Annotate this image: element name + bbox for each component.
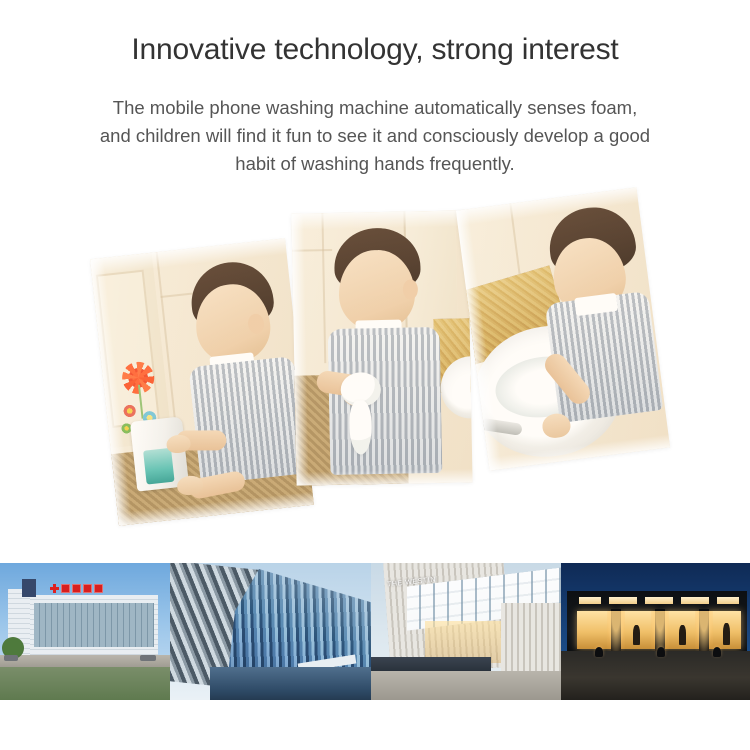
child-ear <box>403 279 418 299</box>
photo-boy-dispenser <box>90 238 314 526</box>
page-title: Innovative technology, strong interest <box>0 30 750 70</box>
hospital-rooftop-sign <box>50 584 103 593</box>
photo-boy-sink <box>456 187 670 470</box>
strip-night-storefront <box>561 563 750 700</box>
hospital-glass-facade <box>34 603 154 647</box>
strip-glass-tower <box>170 563 371 700</box>
description-line-1: The mobile phone washing machine automat… <box>36 94 714 122</box>
photo-boy-sink-scene <box>456 187 670 470</box>
rooftop-box <box>22 579 36 597</box>
description-line-3: habit of washing hands frequently. <box>36 150 714 178</box>
wall-wash-light <box>607 611 625 651</box>
tower-base <box>210 667 371 700</box>
strip-westin-hotel: THE WESTIN <box>371 563 561 700</box>
bollard-light <box>657 647 665 657</box>
building-photo-strip: THE WESTIN <box>0 563 750 700</box>
sign-char <box>83 584 92 593</box>
description-line-2: and children will find it fun to see it … <box>36 122 714 150</box>
sign-char <box>72 584 81 593</box>
wall-wash-light <box>695 611 713 651</box>
hotel-driveway <box>371 671 561 700</box>
child-shirt <box>188 356 306 485</box>
bollard-light <box>713 647 721 657</box>
photo-collage <box>0 190 750 540</box>
bollard-light <box>595 647 603 657</box>
car <box>4 655 18 661</box>
clerestory-window <box>645 597 673 604</box>
hotel-side-wing <box>501 603 561 671</box>
lawn <box>0 667 170 700</box>
clerestory-window <box>681 597 709 604</box>
car <box>140 655 156 661</box>
clerestory-window <box>717 597 739 604</box>
photo-boy-foam <box>291 210 472 485</box>
sign-char <box>61 584 70 593</box>
forecourt <box>561 651 750 700</box>
person-silhouette <box>723 623 730 645</box>
clerestory-window <box>609 597 637 604</box>
person-silhouette <box>679 625 686 645</box>
foam-drip <box>349 400 372 454</box>
person-silhouette <box>633 625 640 645</box>
red-cross-icon <box>50 584 59 593</box>
dispenser-soap-window <box>143 448 175 485</box>
photo-boy-dispenser-scene <box>90 238 314 526</box>
sign-char <box>94 584 103 593</box>
description-block: The mobile phone washing machine automat… <box>36 94 714 178</box>
product-detail-page: Innovative technology, strong interest T… <box>0 0 750 750</box>
wall-wash-light <box>651 611 669 651</box>
strip-hospital <box>0 563 170 700</box>
photo-boy-foam-scene <box>291 210 472 485</box>
clerestory-window <box>579 597 601 604</box>
